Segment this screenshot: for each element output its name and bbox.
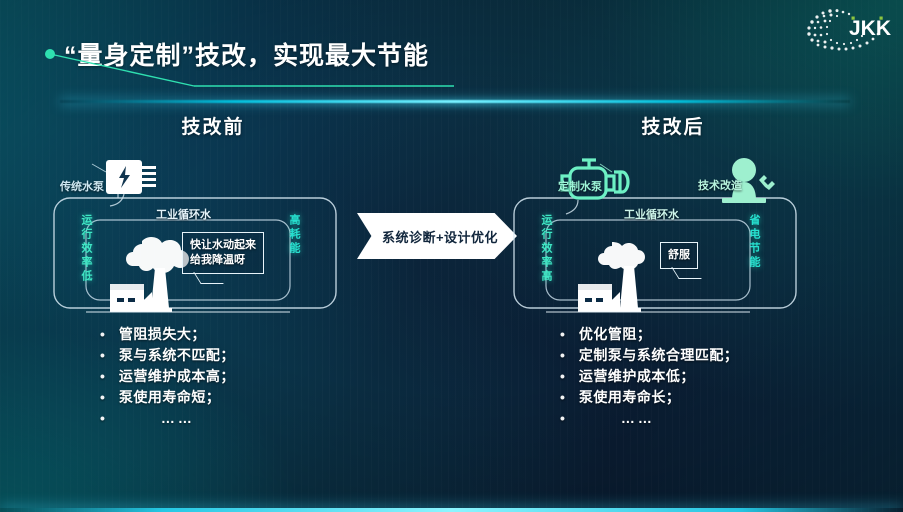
before-efficiency-label: 运行效率低	[78, 214, 94, 284]
bullet-text: 运营维护成本低；	[579, 366, 695, 387]
transformation-arrow: 系统诊断+设计优化	[357, 213, 517, 259]
bullet-dot: •	[560, 345, 565, 366]
after-diagram: 定制水泵 工业循环水 技术改造 运行效率高 省电节能 舒服	[508, 142, 838, 327]
inner-loop-pipe	[546, 220, 750, 300]
motor-lightning-icon	[106, 160, 156, 194]
bullet-text: ……	[119, 408, 195, 429]
bullet-dot: •	[100, 366, 105, 387]
before-energy-label: 高耗能	[286, 214, 302, 256]
after-efficiency-label: 运行效率高	[538, 214, 554, 284]
pump-riser-pipe	[110, 194, 124, 206]
pump-riser-pipe	[566, 200, 578, 214]
list-item: • ……	[100, 408, 390, 429]
before-water-label: 工业循环水	[156, 206, 211, 222]
bullet-dot: •	[100, 408, 105, 429]
bullet-text: 优化管阻；	[579, 324, 652, 345]
logo-wordmark: JKKJ	[849, 17, 891, 40]
before-panel: 技改前	[48, 112, 378, 442]
bullet-text: 管阻损失大；	[119, 324, 206, 345]
after-bullet-list: • 优化管阻； • 定制泵与系统合理匹配； • 运营维护成本低； • 泵使用寿命…	[560, 324, 850, 429]
factory-smoke-icon	[110, 237, 189, 312]
bullet-dot: •	[560, 387, 565, 408]
bullet-dot: •	[560, 366, 565, 387]
list-item: • 运营维护成本低；	[560, 366, 850, 387]
bullet-dot: •	[100, 324, 105, 345]
list-item: • 管阻损失大；	[100, 324, 390, 345]
after-tech-label: 技术改造	[698, 177, 742, 193]
list-item: • 定制泵与系统合理匹配；	[560, 345, 850, 366]
list-item: • 优化管阻；	[560, 324, 850, 345]
bullet-text: 泵使用寿命长；	[579, 387, 681, 408]
list-item: • 运营维护成本高；	[100, 366, 390, 387]
slide-canvas: JKKJ “量身定制”技改，实现最大节能 技改前	[0, 0, 903, 512]
arrow-label: 系统诊断+设计优化	[357, 213, 517, 259]
company-logo: JKKJ	[799, 4, 891, 56]
before-bullet-list: • 管阻损失大； • 泵与系统不匹配； • 运营维护成本高； • 泵使用寿命短；…	[100, 324, 390, 429]
before-panel-heading: 技改前	[48, 112, 378, 139]
after-panel-heading: 技改后	[508, 112, 838, 139]
bullet-dot: •	[100, 345, 105, 366]
after-pump-label: 定制水泵	[558, 178, 602, 194]
pump-label-leader	[92, 164, 106, 172]
title-accent-line-icon	[44, 48, 464, 90]
bullet-dot: •	[100, 387, 105, 408]
list-item: • 泵使用寿命长；	[560, 387, 850, 408]
bullet-text: 定制泵与系统合理匹配；	[579, 345, 739, 366]
bullet-text: ……	[579, 408, 655, 429]
bullet-text: 泵与系统不匹配；	[119, 345, 235, 366]
bullet-dot: •	[560, 408, 565, 429]
title-divider	[60, 100, 850, 103]
after-energy-label: 省电节能	[746, 214, 762, 270]
list-item: • ……	[560, 408, 850, 429]
bullet-text: 运营维护成本高；	[119, 366, 235, 387]
list-item: • 泵使用寿命短；	[100, 387, 390, 408]
list-item: • 泵与系统不匹配；	[100, 345, 390, 366]
before-speech-bubble: 快让水动起来 给我降温呀	[182, 232, 264, 274]
bullet-dot: •	[560, 324, 565, 345]
after-panel: 技改后	[508, 112, 838, 442]
before-diagram: 传统水泵 工业循环水 运行效率低 高耗能 快让水动起来 给我降温呀	[48, 142, 378, 327]
bullet-text: 泵使用寿命短；	[119, 387, 221, 408]
dotted-swirl-logo-icon: JKKJ	[799, 4, 891, 56]
factory-smoke-icon	[578, 242, 645, 312]
before-pump-label: 传统水泵	[60, 178, 104, 194]
after-water-label: 工业循环水	[624, 206, 679, 222]
slide-title-group: “量身定制”技改，实现最大节能	[44, 36, 429, 72]
after-speech-bubble: 舒服	[660, 242, 698, 269]
bottom-glow-bar	[0, 508, 903, 512]
